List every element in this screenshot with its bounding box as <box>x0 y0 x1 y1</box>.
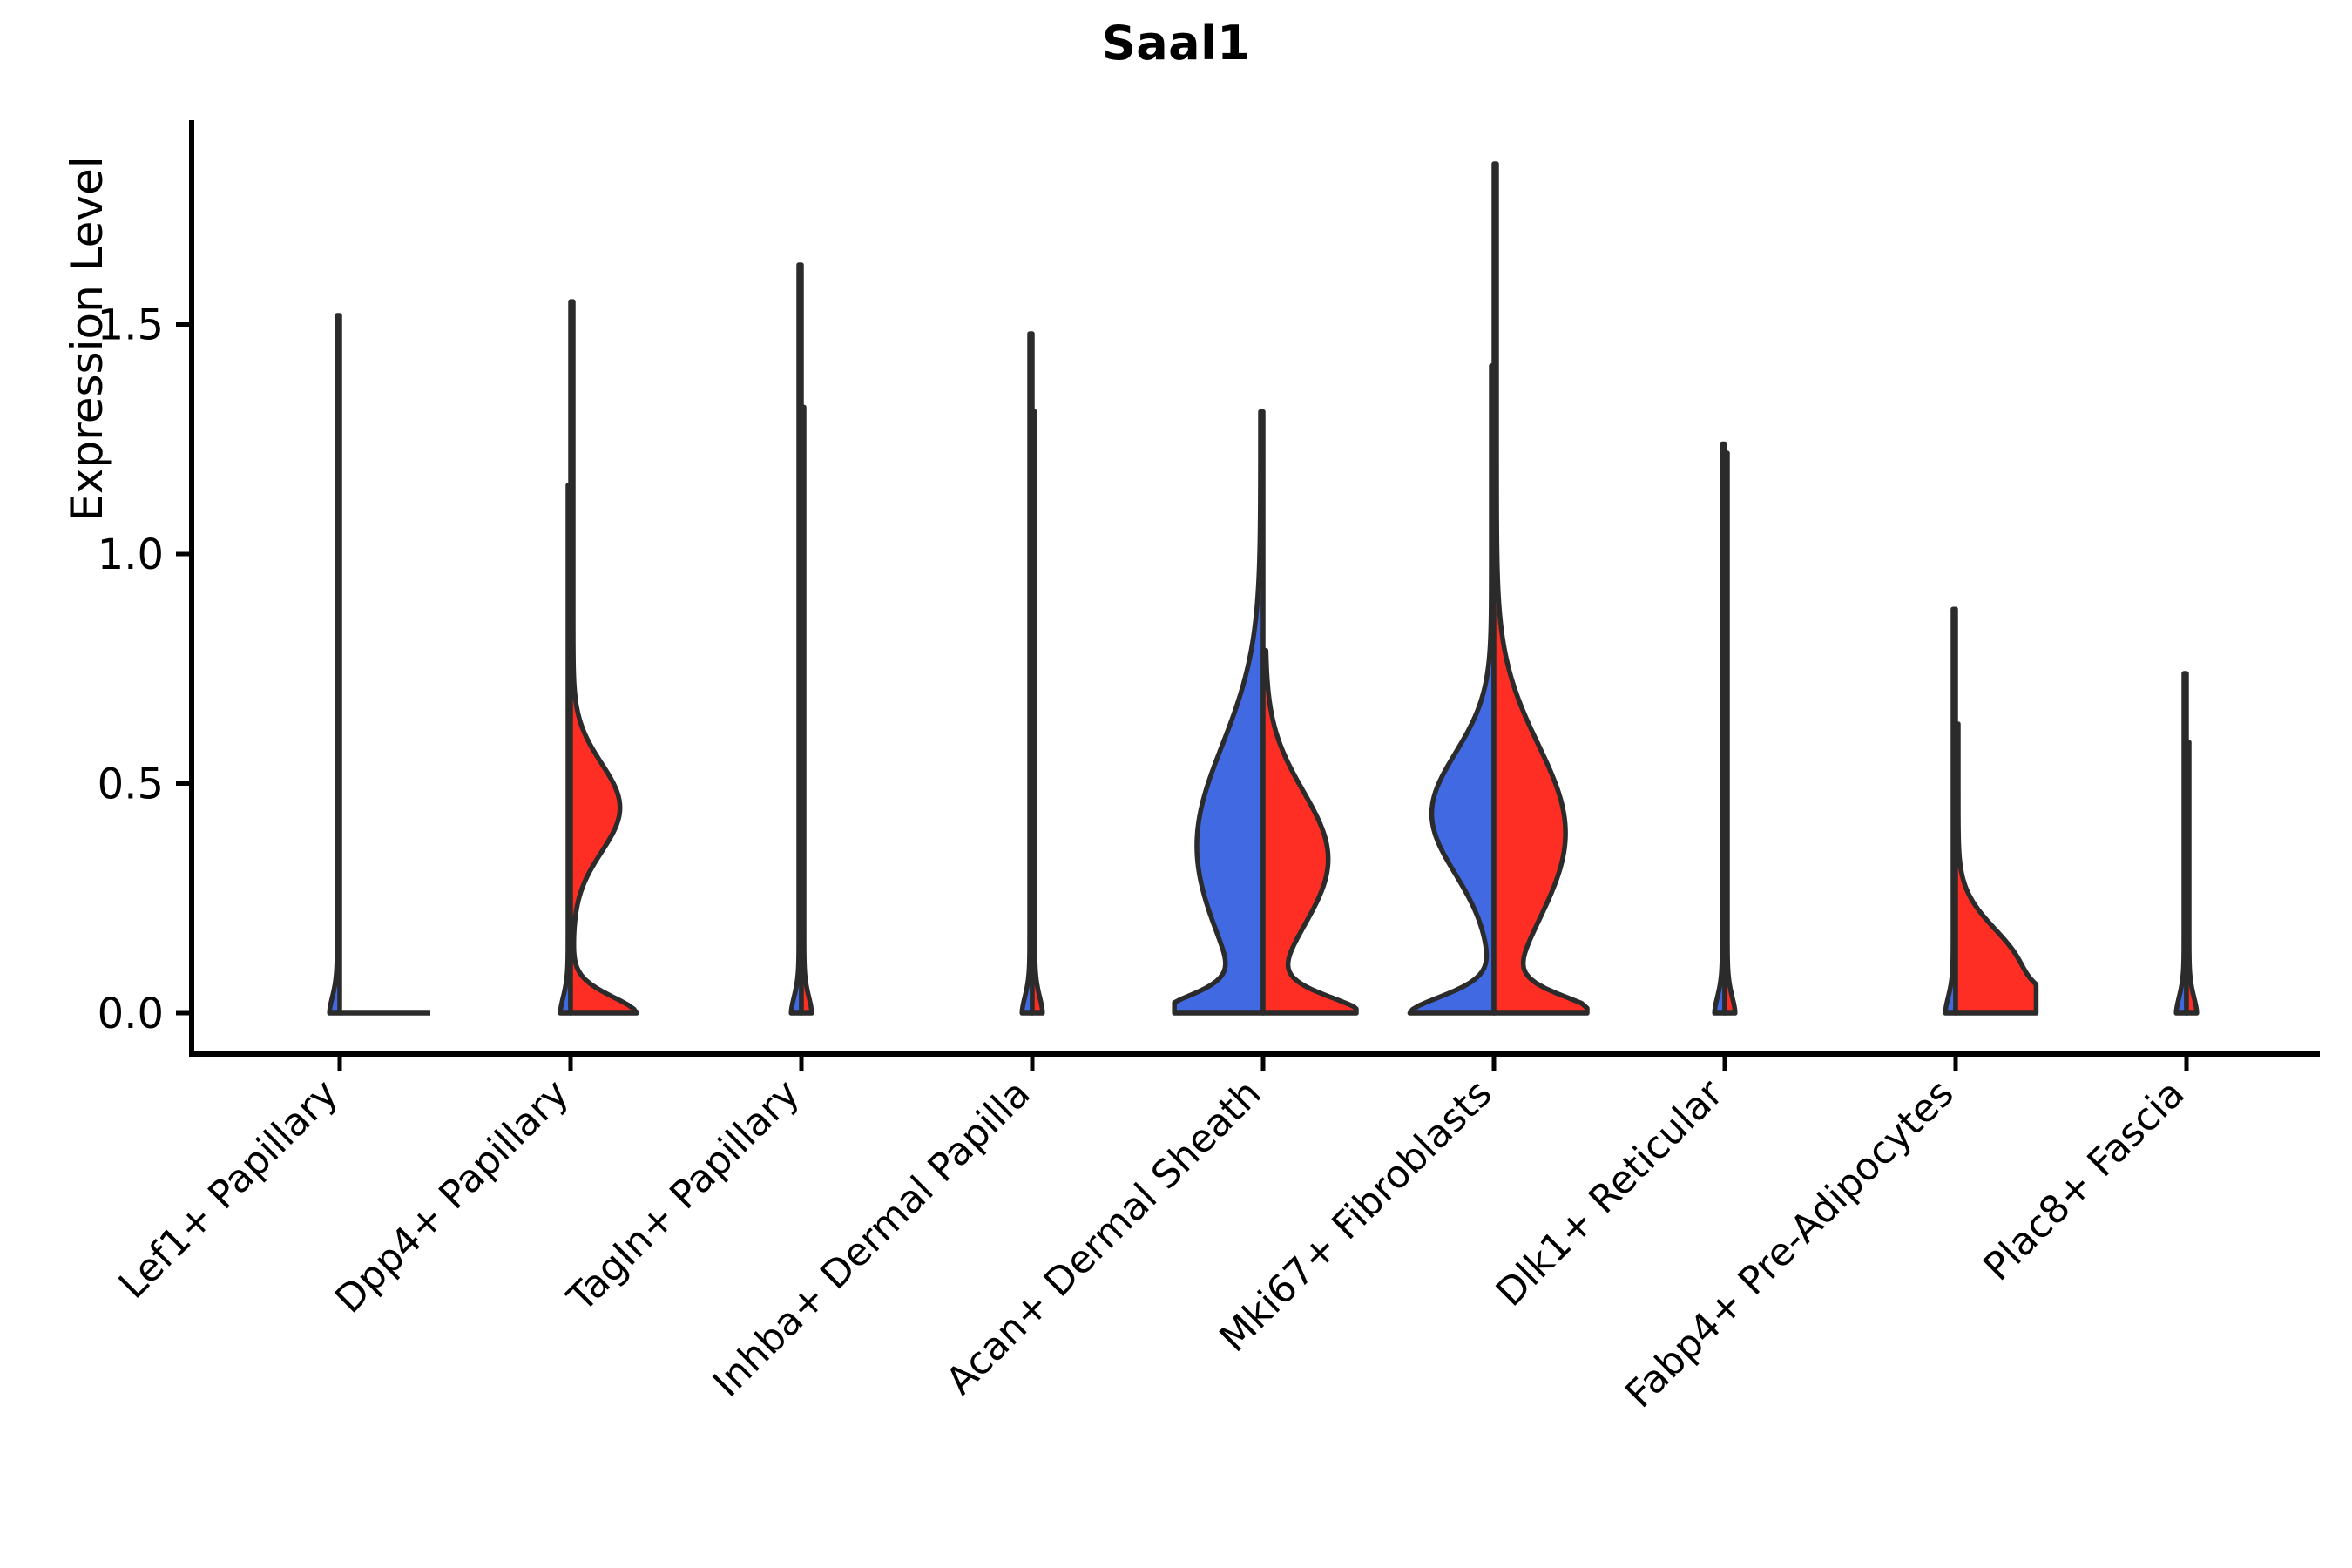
y-tick-label: 0.5 <box>98 760 164 809</box>
x-tick-label-0: Lef1+ Papillary <box>111 1071 347 1308</box>
violin-group_a-5 <box>1409 366 1494 1013</box>
x-tick-group: Lef1+ PapillaryDpp4+ PapillaryTagIn+ Pap… <box>111 1054 2193 1416</box>
violin-group_b-3 <box>1032 412 1043 1013</box>
x-tick-label-2: TagIn+ Papillary <box>558 1071 808 1321</box>
y-tick-group: 0.00.51.01.5 <box>98 301 192 1039</box>
y-tick-label: 1.0 <box>98 531 164 579</box>
y-tick-label: 0.0 <box>98 990 164 1038</box>
violin-group_b-6 <box>1725 453 1735 1013</box>
y-tick-label: 1.5 <box>98 301 164 350</box>
violin-group_b-2 <box>801 407 812 1013</box>
violin-plot-figure: Saal1 Expression Level 0.00.51.01.5 Lef1… <box>0 0 2352 1568</box>
violin-group_b-8 <box>2186 742 2197 1013</box>
violin-group_b-1 <box>571 301 637 1013</box>
x-tick-label-1: Dpp4+ Papillary <box>327 1071 578 1322</box>
x-tick-label-6: Dlk1+ Reticular <box>1488 1071 1733 1315</box>
violin-group_a-0 <box>329 315 340 1013</box>
violin-group_b-7 <box>1956 724 2036 1013</box>
violin-group_b-5 <box>1494 164 1587 1013</box>
violin-group <box>329 164 2197 1013</box>
violin-group_b-4 <box>1263 651 1356 1013</box>
x-tick-label-8: Plac8+ Fascia <box>1975 1071 2193 1290</box>
violin-group_a-4 <box>1174 412 1263 1013</box>
chart-canvas: 0.00.51.01.5 Lef1+ PapillaryDpp4+ Papill… <box>0 0 2352 1568</box>
